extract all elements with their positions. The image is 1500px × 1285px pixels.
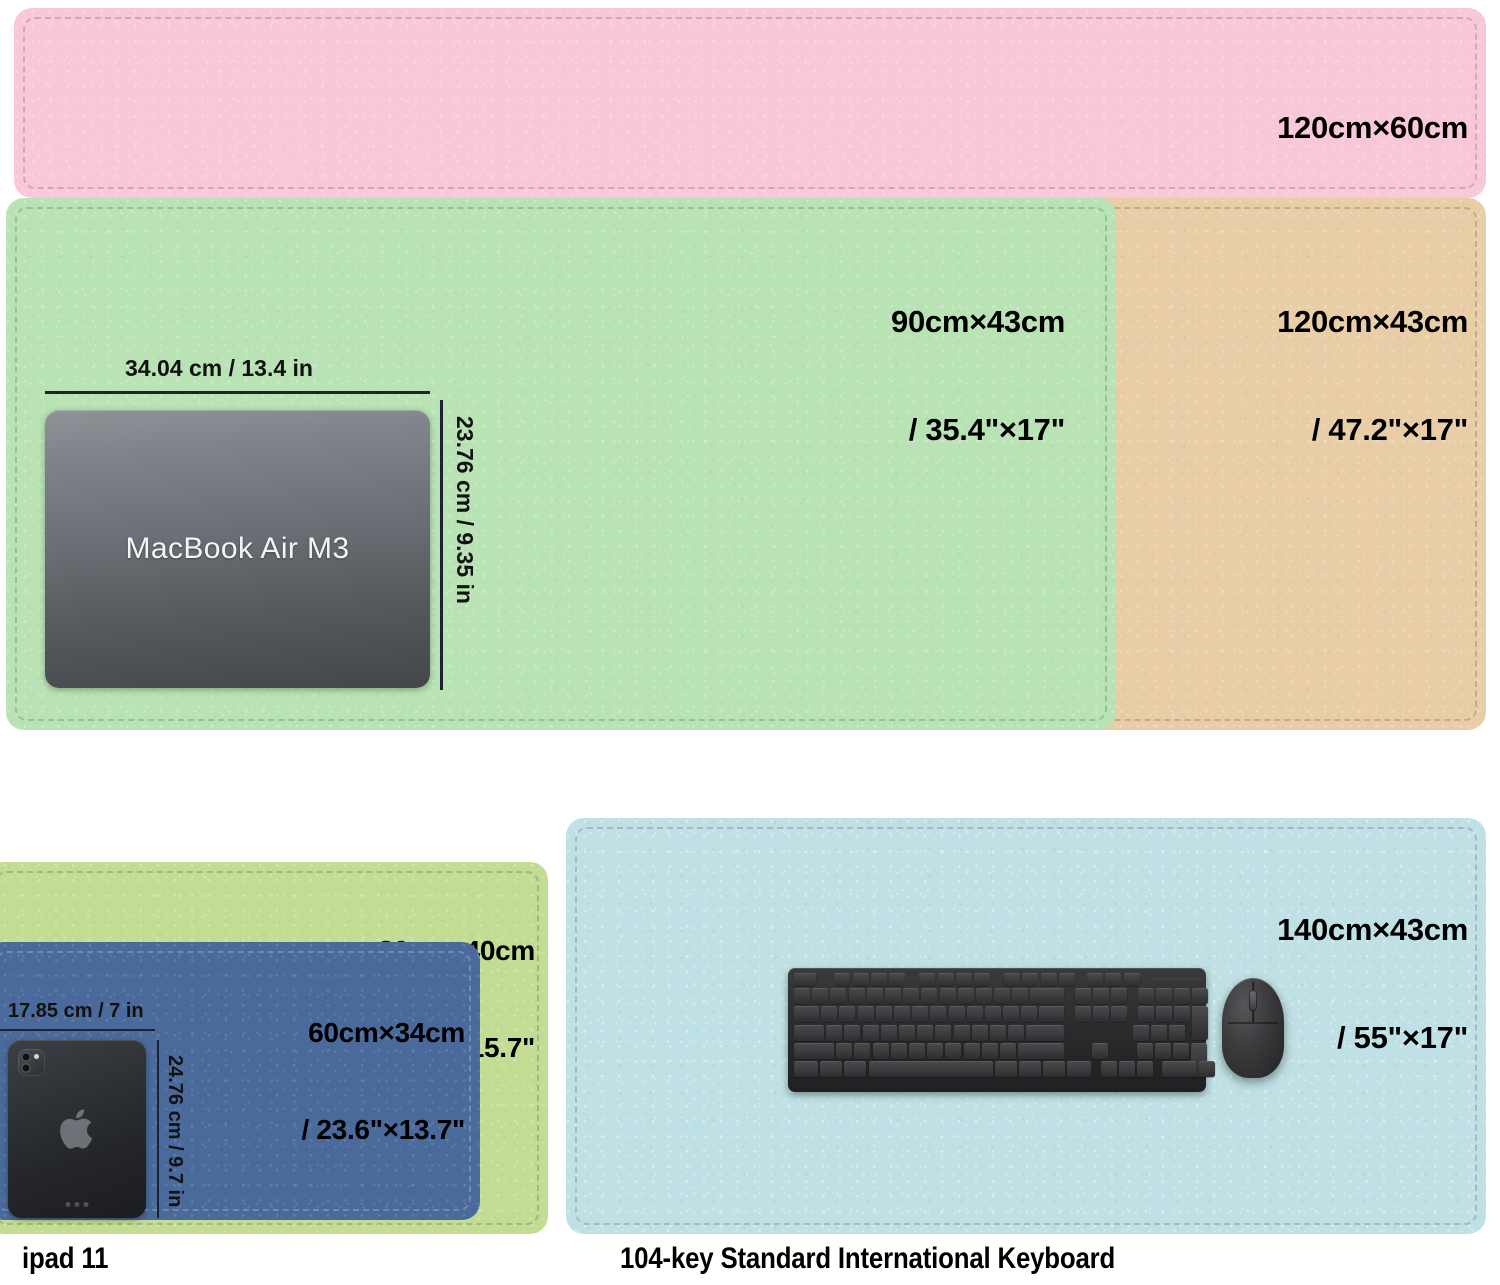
key-spacer <box>1094 1061 1099 1077</box>
key-slash <box>1000 1043 1016 1059</box>
tan-mat-size-imperial: / 47.2"×17" <box>1277 412 1468 448</box>
key-f4 <box>889 973 905 986</box>
key-numpad-2 <box>1155 1043 1171 1059</box>
keyboard-number-row <box>794 988 1200 1004</box>
key-numpad-0 <box>1162 1061 1196 1077</box>
key-insert <box>1075 988 1091 1004</box>
blue-mat-size-imperial: / 23.6"×13.7" <box>205 1114 465 1146</box>
key-comma <box>964 1043 980 1059</box>
pink-mat-size-metric: 120cm×60cm <box>1277 110 1468 146</box>
keyboard-bottom-row <box>794 1061 1200 1077</box>
key-h <box>917 1025 933 1041</box>
key-alt-right <box>995 1061 1017 1077</box>
key-spacer <box>1111 1043 1135 1059</box>
key-backtick <box>794 988 810 1004</box>
key-f9 <box>1004 973 1020 986</box>
ipad-width-rule <box>0 1029 155 1031</box>
key-f <box>881 1025 897 1041</box>
key-numpad-8 <box>1156 1006 1172 1022</box>
key-5 <box>885 988 901 1004</box>
key-f1 <box>834 973 850 986</box>
key-bracket-left <box>1003 1006 1019 1022</box>
key-t <box>894 1006 910 1022</box>
key-f12 <box>1059 973 1075 986</box>
key-numpad-9 <box>1174 1006 1190 1022</box>
key-alt-left <box>844 1061 866 1077</box>
connector-dot <box>66 1202 71 1207</box>
key-numpad-1 <box>1137 1043 1153 1059</box>
key-page-up <box>1111 988 1127 1004</box>
key-spacer <box>1155 1061 1160 1077</box>
key-print-screen <box>1087 973 1103 986</box>
apple-logo-icon <box>60 1109 94 1149</box>
keyboard-shift-row <box>794 1043 1200 1059</box>
key-p <box>985 1006 1001 1022</box>
key-minus <box>994 988 1010 1004</box>
infographic-canvas: 120cm×60cm / 47.2"×23.6" 120cm×43cm / 47… <box>0 0 1500 1285</box>
key-f3 <box>871 973 887 986</box>
key-b <box>909 1043 925 1059</box>
key-numpad-7 <box>1138 1006 1154 1022</box>
key-f10 <box>1022 973 1038 986</box>
key-numpad-decimal <box>1199 1061 1215 1077</box>
key-spacer <box>992 973 1002 986</box>
key-spacer <box>1067 988 1073 1004</box>
key-ctrl-right <box>1067 1061 1091 1077</box>
key-arrow-up <box>1092 1043 1108 1059</box>
key-x <box>854 1043 870 1059</box>
camera-flash-icon <box>34 1054 39 1059</box>
key-backslash <box>1039 1006 1064 1022</box>
ipad-connector-dots <box>66 1202 89 1207</box>
key-g <box>899 1025 915 1041</box>
key-numpad-3 <box>1173 1043 1189 1059</box>
key-o <box>967 1006 983 1022</box>
key-arrow-left <box>1101 1061 1117 1077</box>
key-win-left <box>820 1061 842 1077</box>
key-numpad-6 <box>1169 1025 1185 1041</box>
key-9 <box>958 988 974 1004</box>
keyboard-indicator-lights <box>1152 977 1204 981</box>
key-a <box>826 1025 842 1041</box>
key-v <box>891 1043 907 1059</box>
mouse-scroll-wheel <box>1249 990 1257 1011</box>
key-num-lock <box>1138 988 1154 1004</box>
key-u <box>930 1006 946 1022</box>
key-numpad-5 <box>1151 1025 1167 1041</box>
key-3 <box>849 988 865 1004</box>
teal-mat-size-imperial: / 55"×17" <box>1277 1020 1468 1056</box>
key-pause <box>1124 973 1140 986</box>
key-enter <box>1026 1025 1064 1041</box>
green-mat-size-imperial: / 35.4"×17" <box>800 412 1065 448</box>
ipad-11-device <box>8 1040 146 1218</box>
key-space <box>869 1061 993 1077</box>
key-n <box>927 1043 943 1059</box>
key-scroll-lock <box>1105 973 1121 986</box>
camera-lens-icon <box>21 1052 31 1062</box>
blue-mat-size-label: 60cm×34cm / 23.6"×13.7" <box>205 952 465 1212</box>
ipad-caption: ipad 11 <box>22 1242 108 1276</box>
key-arrow-down <box>1119 1061 1135 1077</box>
key-c <box>873 1043 889 1059</box>
key-spacer <box>1077 973 1085 986</box>
keyboard-qwerty-row <box>794 1006 1200 1022</box>
key-e <box>858 1006 874 1022</box>
key-period <box>982 1043 998 1059</box>
key-i <box>949 1006 965 1022</box>
key-f7 <box>956 973 972 986</box>
key-delete <box>1075 1006 1091 1022</box>
key-spacer <box>1129 1006 1135 1022</box>
key-w <box>839 1006 855 1022</box>
key-home <box>1093 988 1109 1004</box>
key-1 <box>812 988 828 1004</box>
key-6 <box>903 988 919 1004</box>
key-spacer <box>1066 1043 1090 1059</box>
pink-desk-mat <box>14 8 1486 198</box>
camera-lens-secondary-icon <box>21 1063 31 1073</box>
key-numpad-add <box>1192 1006 1208 1040</box>
ipad-height-rule <box>157 1040 159 1218</box>
macbook-device-label: MacBook Air M3 <box>125 532 349 566</box>
key-d <box>863 1025 879 1041</box>
key-f8 <box>974 973 990 986</box>
key-spacer <box>1129 988 1135 1004</box>
macbook-air-m3-device: MacBook Air M3 <box>45 410 430 688</box>
key-k <box>954 1025 970 1041</box>
key-end <box>1093 1006 1109 1022</box>
keyboard-caption: 104-key Standard International Keyboard <box>620 1242 1115 1276</box>
key-shift-left <box>794 1043 834 1059</box>
teal-mat-size-label: 140cm×43cm / 55"×17" <box>1277 840 1468 1128</box>
key-s <box>844 1025 860 1041</box>
key-semicolon <box>990 1025 1006 1041</box>
key-8 <box>940 988 956 1004</box>
macbook-width-rule <box>45 391 430 394</box>
key-2 <box>830 988 846 1004</box>
mouse-device <box>1222 978 1284 1078</box>
macbook-height-label: 23.76 cm / 9.35 in <box>451 416 478 604</box>
tan-mat-size-label: 120cm×43cm / 47.2"×17" <box>1277 232 1468 520</box>
key-equals <box>1012 988 1028 1004</box>
key-arrow-right <box>1137 1061 1153 1077</box>
key-win-right <box>1019 1061 1041 1077</box>
mat-stitching-pink <box>23 17 1477 189</box>
key-spacer <box>1066 1025 1130 1041</box>
key-spacer <box>1142 973 1150 986</box>
connector-dot <box>75 1202 80 1207</box>
key-0 <box>976 988 992 1004</box>
keyboard-home-row <box>794 1025 1200 1041</box>
mat-texture-pink <box>14 8 1486 198</box>
key-l <box>972 1025 988 1041</box>
key-numpad-multiply <box>1174 988 1190 1004</box>
key-page-down <box>1111 1006 1127 1022</box>
key-backspace <box>1030 988 1064 1004</box>
key-j <box>935 1025 951 1041</box>
keyboard-device <box>788 968 1206 1092</box>
green-mat-size-metric: 90cm×43cm <box>800 304 1065 340</box>
key-z <box>836 1043 852 1059</box>
mouse-seam <box>1228 1022 1278 1024</box>
keyboard-function-row <box>794 973 1200 986</box>
key-tab <box>794 1006 819 1022</box>
key-shift-right <box>1018 1043 1064 1059</box>
tan-mat-size-metric: 120cm×43cm <box>1277 304 1468 340</box>
key-spacer <box>818 973 832 986</box>
key-r <box>876 1006 892 1022</box>
key-esc <box>794 973 816 986</box>
ipad-camera-module <box>18 1049 45 1076</box>
key-y <box>912 1006 928 1022</box>
key-f6 <box>938 973 954 986</box>
key-q <box>821 1006 837 1022</box>
key-numpad-4 <box>1133 1025 1149 1041</box>
ipad-height-label: 24.76 cm / 9.7 in <box>163 1055 186 1207</box>
key-numpad-subtract <box>1192 988 1208 1004</box>
key-menu <box>1043 1061 1065 1077</box>
key-spacer <box>1067 1006 1073 1022</box>
key-f5 <box>919 973 935 986</box>
key-bracket-right <box>1021 1006 1037 1022</box>
teal-mat-size-metric: 140cm×43cm <box>1277 912 1468 948</box>
key-f11 <box>1041 973 1057 986</box>
key-7 <box>921 988 937 1004</box>
key-numpad-divide <box>1156 988 1172 1004</box>
key-spacer <box>907 973 917 986</box>
key-4 <box>867 988 883 1004</box>
key-quote <box>1008 1025 1024 1041</box>
macbook-width-label: 34.04 cm / 13.4 in <box>125 355 313 382</box>
macbook-height-rule <box>440 400 443 690</box>
blue-mat-size-metric: 60cm×34cm <box>205 1017 465 1049</box>
key-caps-lock <box>794 1025 824 1041</box>
key-f2 <box>853 973 869 986</box>
key-m <box>945 1043 961 1059</box>
ipad-width-label: 17.85 cm / 7 in <box>8 1000 144 1023</box>
connector-dot <box>84 1202 89 1207</box>
green-mat-size-label: 90cm×43cm / 35.4"×17" <box>800 232 1065 520</box>
key-ctrl-left <box>794 1061 818 1077</box>
